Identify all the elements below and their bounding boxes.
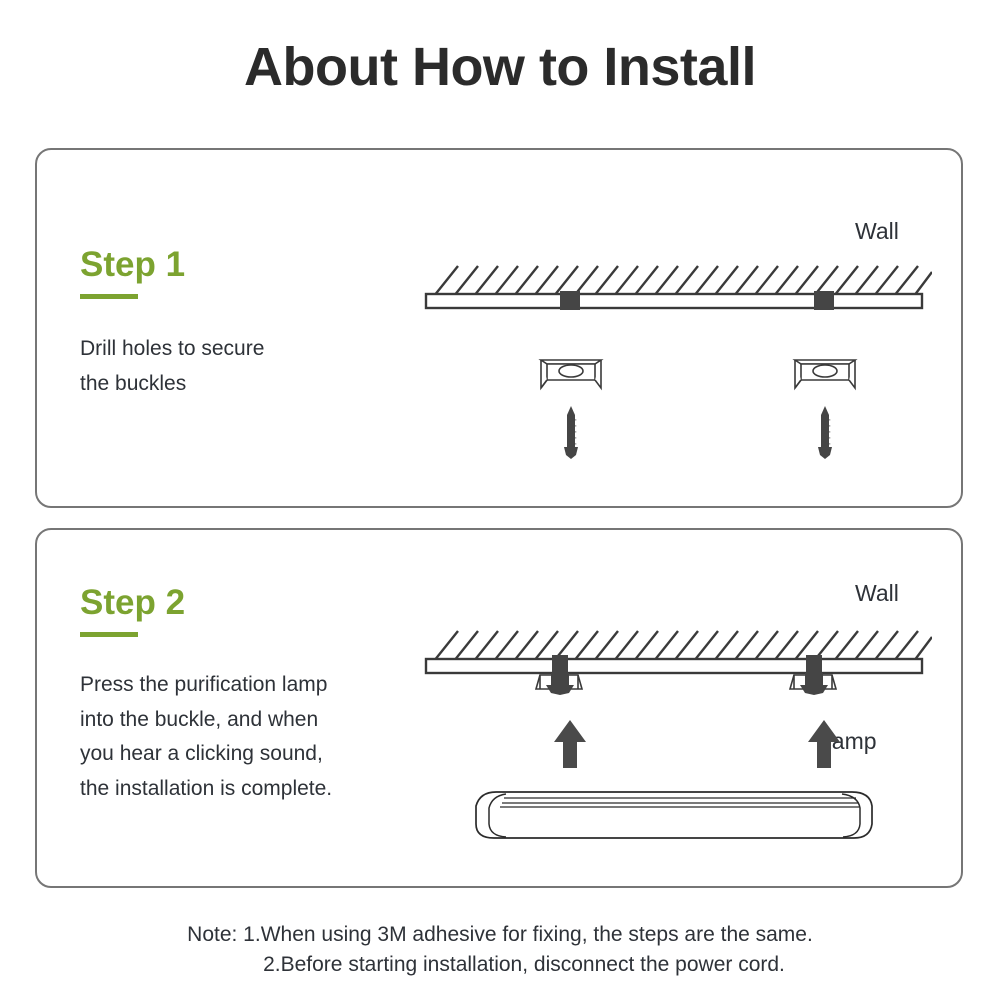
drill-hole-right (814, 291, 834, 310)
up-arrow-right (804, 718, 844, 770)
page-title: About How to Install (0, 36, 1000, 98)
wall-bar (426, 659, 922, 673)
lamp-body (476, 792, 872, 838)
buckle-hole (559, 365, 583, 377)
footer-note: Note: 1.When using 3M adhesive for fixin… (0, 920, 1000, 981)
wall-with-holes-diagram (412, 250, 932, 310)
step-2-heading-block: Step 2 (80, 585, 185, 637)
buckle-bracket-right (787, 358, 863, 394)
screw-right (810, 405, 840, 463)
step-1-title: Step 1 (80, 247, 185, 282)
lamp-tube-diagram (462, 780, 882, 850)
wall-with-mounted-buckles-diagram (412, 615, 932, 705)
step-card-2: Step 2 Press the purification lamp into … (35, 528, 963, 888)
wall-bar (426, 294, 922, 308)
step-1-heading-block: Step 1 (80, 247, 185, 299)
screw-left (556, 405, 586, 463)
drill-hole-left (560, 291, 580, 310)
wall-hatching-icon (434, 631, 932, 661)
up-arrow-left (550, 718, 590, 770)
wall-label-step-2: Wall (855, 580, 899, 607)
step-card-1: Step 1 Drill holes to secure the buckles… (35, 148, 963, 508)
note-line-1: Note: 1.When using 3M adhesive for fixin… (0, 920, 1000, 950)
wall-label-step-1: Wall (855, 218, 899, 245)
step-2-title: Step 2 (80, 585, 185, 620)
step-1-description: Drill holes to secure the buckles (80, 332, 264, 401)
buckle-hole (813, 365, 837, 377)
buckle-bracket-left (533, 358, 609, 394)
wall-hatching-icon (434, 266, 932, 296)
step-1-underline-rule (80, 294, 138, 299)
step-2-description: Press the purification lamp into the buc… (80, 668, 332, 807)
note-line-2: 2.Before starting installation, disconne… (0, 950, 1000, 980)
step-2-underline-rule (80, 632, 138, 637)
